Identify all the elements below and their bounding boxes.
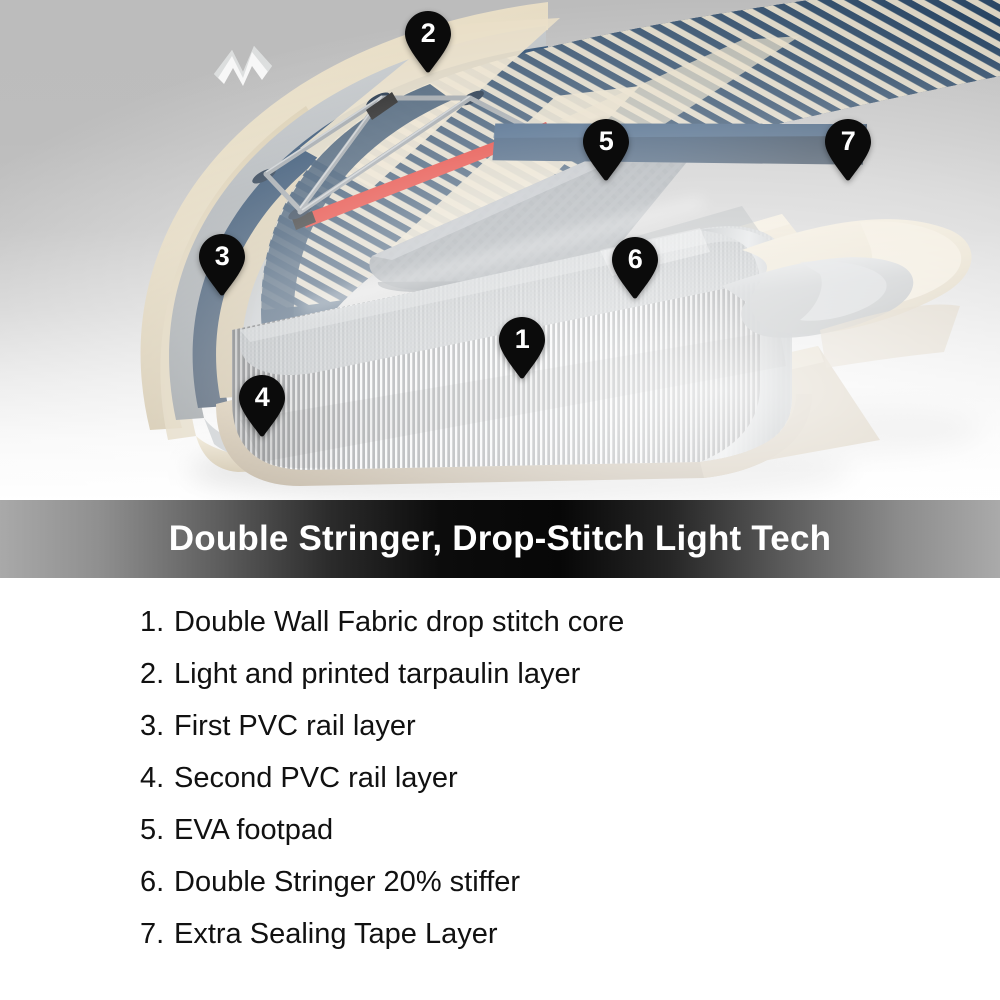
board-construction-illustration: 1234567: [0, 0, 1000, 500]
legend-text-2: Light and printed tarpaulin layer: [174, 658, 580, 691]
pin-shape-icon: [239, 375, 285, 437]
legend-text-3: First PVC rail layer: [174, 710, 416, 743]
pin-shape-icon: [499, 317, 545, 379]
legend-item-3: 3.First PVC rail layer: [0, 710, 1000, 762]
marker-pin-5[interactable]: 5: [583, 119, 629, 181]
pin-shape-icon: [199, 234, 245, 296]
marker-pin-6[interactable]: 6: [612, 237, 658, 299]
marker-pin-1[interactable]: 1: [499, 317, 545, 379]
marker-pin-4[interactable]: 4: [239, 375, 285, 437]
legend-text-6: Double Stringer 20% stiffer: [174, 866, 520, 899]
legend-item-6: 6.Double Stringer 20% stiffer: [0, 866, 1000, 918]
infographic-page: 1234567 Double Stringer, Drop-Stitch Lig…: [0, 0, 1000, 1000]
pin-shape-icon: [405, 11, 451, 73]
legend-text-5: EVA footpad: [174, 814, 333, 847]
sup-board-cutaway-artwork: [0, 0, 1000, 500]
pin-shape-icon: [583, 119, 629, 181]
legend-item-7: 7.Extra Sealing Tape Layer: [0, 918, 1000, 970]
legend-item-1: 1.Double Wall Fabric drop stitch core: [0, 606, 1000, 658]
pin-shape-icon: [612, 237, 658, 299]
legend-text-7: Extra Sealing Tape Layer: [174, 918, 498, 951]
legend-index-2: 2.: [140, 658, 174, 691]
legend-text-4: Second PVC rail layer: [174, 762, 458, 795]
legend-item-5: 5.EVA footpad: [0, 814, 1000, 866]
page-title: Double Stringer, Drop-Stitch Light Tech: [169, 519, 831, 559]
title-banner: Double Stringer, Drop-Stitch Light Tech: [0, 500, 1000, 578]
marker-pin-3[interactable]: 3: [199, 234, 245, 296]
legend-list: 1.Double Wall Fabric drop stitch core2.L…: [0, 578, 1000, 1000]
legend-index-4: 4.: [140, 762, 174, 795]
legend-index-3: 3.: [140, 710, 174, 743]
marker-pin-2[interactable]: 2: [405, 11, 451, 73]
legend-index-6: 6.: [140, 866, 174, 899]
pin-shape-icon: [825, 119, 871, 181]
legend-item-2: 2.Light and printed tarpaulin layer: [0, 658, 1000, 710]
legend-item-4: 4.Second PVC rail layer: [0, 762, 1000, 814]
legend-index-7: 7.: [140, 918, 174, 951]
legend-index-1: 1.: [140, 606, 174, 639]
legend-text-1: Double Wall Fabric drop stitch core: [174, 606, 624, 639]
marker-pin-7[interactable]: 7: [825, 119, 871, 181]
aqua-marina-logo: [214, 46, 272, 86]
legend-index-5: 5.: [140, 814, 174, 847]
